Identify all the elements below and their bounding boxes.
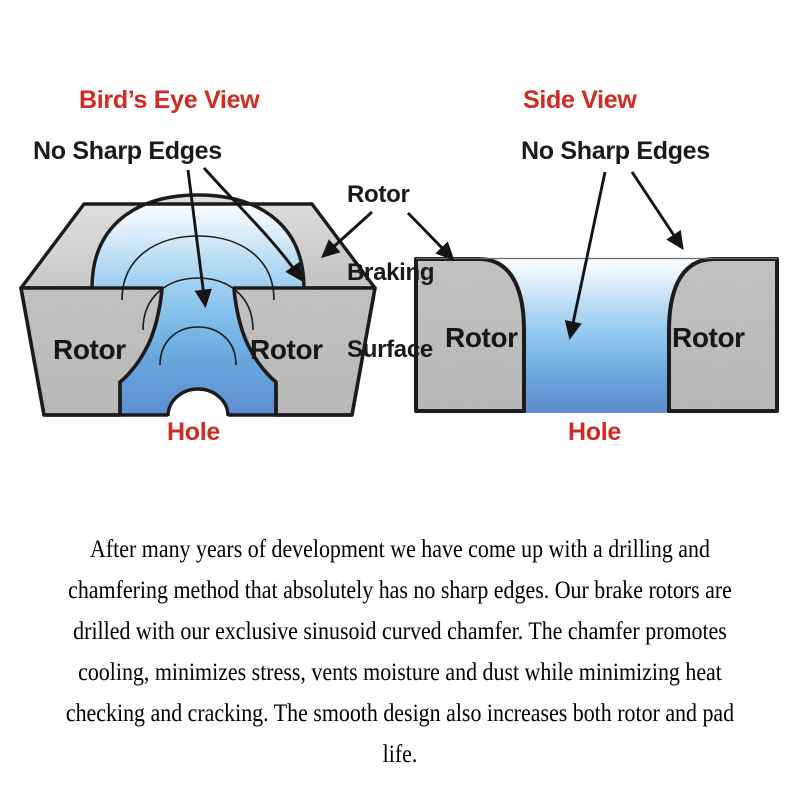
arrow-nse-left-down: [188, 170, 204, 296]
be-hole-notch: [168, 389, 228, 416]
no-sharp-edges-label-right: No Sharp Edges: [521, 139, 710, 165]
no-sharp-edges-label-left: No Sharp Edges: [33, 139, 222, 165]
arrow-nse-left-right: [204, 168, 296, 272]
rotor-caption-side-left: Rotor: [445, 322, 518, 354]
birds-eye-view-title: Bird’s Eye View: [79, 88, 259, 114]
rotor-braking-surface-line-3: Surface: [347, 337, 434, 363]
arrow-nse-right-right: [632, 172, 677, 240]
rotor-caption-birds-eye-left: Rotor: [53, 334, 126, 366]
rotor-braking-surface-line-1: Rotor: [347, 182, 434, 208]
description-paragraph: After many years of development we have …: [63, 528, 737, 774]
be-cavity-walls: [120, 382, 276, 415]
be-top-surface: [21, 195, 375, 288]
hole-label-birds-eye: Hole: [167, 420, 220, 446]
rotor-caption-side-right: Rotor: [672, 322, 745, 354]
rotor-caption-birds-eye-right: Rotor: [250, 334, 323, 366]
side-view-title: Side View: [523, 88, 637, 114]
birds-eye-diagram: [21, 195, 375, 416]
rotor-braking-surface-line-2: Braking: [347, 260, 434, 286]
rotor-braking-surface-label: Rotor Braking Surface: [347, 130, 434, 415]
be-cavity-blue: [92, 195, 304, 415]
arrow-nse-right-down: [572, 172, 605, 328]
hole-label-side-view: Hole: [568, 420, 621, 446]
diagram-page: Bird’s Eye View Side View No Sharp Edges…: [0, 0, 800, 800]
